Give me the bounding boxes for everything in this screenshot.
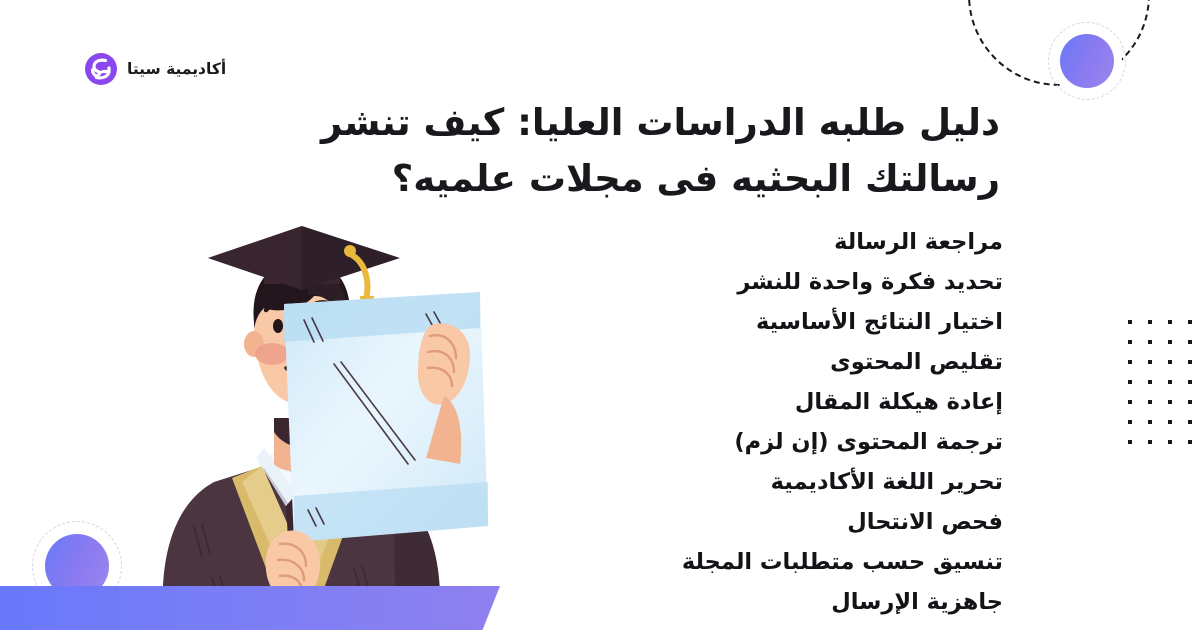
graduate-illustration [108,196,488,630]
list-item: تقليص المحتوى [483,342,1003,382]
page-title: دليل طلبه الدراسات العليا: كيف تنشر رسال… [195,95,1000,207]
list-item: تنسيق حسب متطلبات المجلة [483,542,1003,582]
checklist: مراجعة الرسالة تحديد فكرة واحدة للنشر اخ… [483,222,1003,622]
brand-lockup: أكاديمية سيتا [84,52,226,86]
list-item: مراجعة الرسالة [483,222,1003,262]
poster-canvas: أكاديمية سيتا دليل طلبه الدراسات العليا:… [0,0,1200,630]
list-item: إعادة هيكلة المقال [483,382,1003,422]
seta-logo-icon [84,52,118,86]
headline-line-1: دليل طلبه الدراسات العليا: كيف تنشر [195,95,1000,151]
list-item: تحديد فكرة واحدة للنشر [483,262,1003,302]
list-item: اختيار النتائج الأساسية [483,302,1003,342]
purple-orb-top-right-icon [1060,34,1114,88]
gradient-floor-bar [0,586,500,630]
dot-grid-pattern-icon [1112,320,1200,460]
list-item: جاهزية الإرسال [483,582,1003,622]
list-item: فحص الانتحال [483,502,1003,542]
list-item: تحرير اللغة الأكاديمية [483,462,1003,502]
list-item: ترجمة المحتوى (إن لزم) [483,422,1003,462]
headline-line-2: رسالتك البحثيه فى مجلات علميه؟ [195,151,1000,207]
brand-name: أكاديمية سيتا [127,60,226,78]
